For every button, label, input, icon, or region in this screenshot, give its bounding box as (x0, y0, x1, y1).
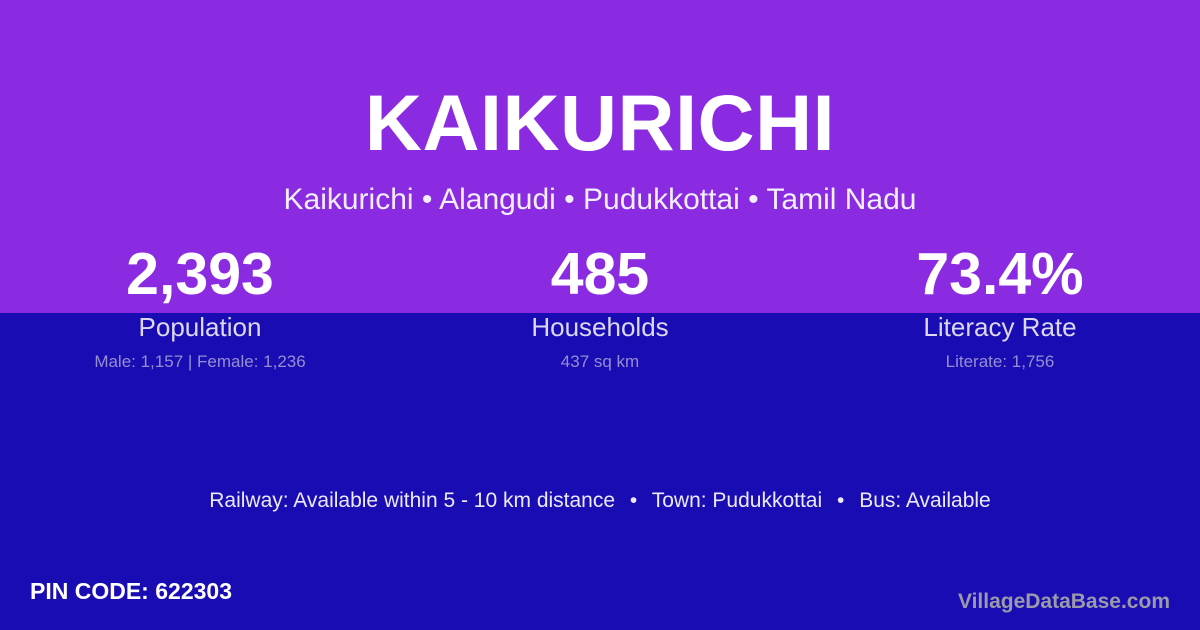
stat-value: 2,393 (0, 245, 400, 307)
page-title: KAIKURICHI (0, 83, 1200, 162)
stats-row: 2,393 Population Male: 1,157 | Female: 1… (0, 245, 1200, 372)
stat-sublabel: 437 sq km (400, 352, 800, 372)
stat-literacy-rate: 73.4% Literacy Rate Literate: 1,756 (800, 245, 1200, 372)
stat-households: 485 Households 437 sq km (400, 245, 800, 372)
stat-label: Population (0, 313, 400, 343)
stat-label: Households (400, 313, 800, 343)
stat-sublabel: Male: 1,157 | Female: 1,236 (0, 352, 400, 372)
infrastructure-line: Railway: Available within 5 - 10 km dist… (0, 487, 1200, 514)
stat-sublabel: Literate: 1,756 (800, 352, 1200, 372)
infra-town: Town: Pudukkottai (652, 489, 822, 512)
infra-separator: • (621, 487, 646, 514)
pin-code: PIN CODE: 622303 (30, 578, 232, 606)
site-brand: VillageDataBase.com (958, 589, 1170, 614)
stat-label: Literacy Rate (800, 313, 1200, 343)
stat-population: 2,393 Population Male: 1,157 | Female: 1… (0, 245, 400, 372)
infra-railway: Railway: Available within 5 - 10 km dist… (209, 489, 615, 512)
stat-value: 73.4% (800, 245, 1200, 307)
stat-value: 485 (400, 245, 800, 307)
breadcrumb: Kaikurichi • Alangudi • Pudukkottai • Ta… (0, 182, 1200, 218)
village-info-card: KAIKURICHI Kaikurichi • Alangudi • Puduk… (0, 0, 1200, 630)
infra-bus: Bus: Available (859, 489, 991, 512)
infra-separator: • (828, 487, 853, 514)
